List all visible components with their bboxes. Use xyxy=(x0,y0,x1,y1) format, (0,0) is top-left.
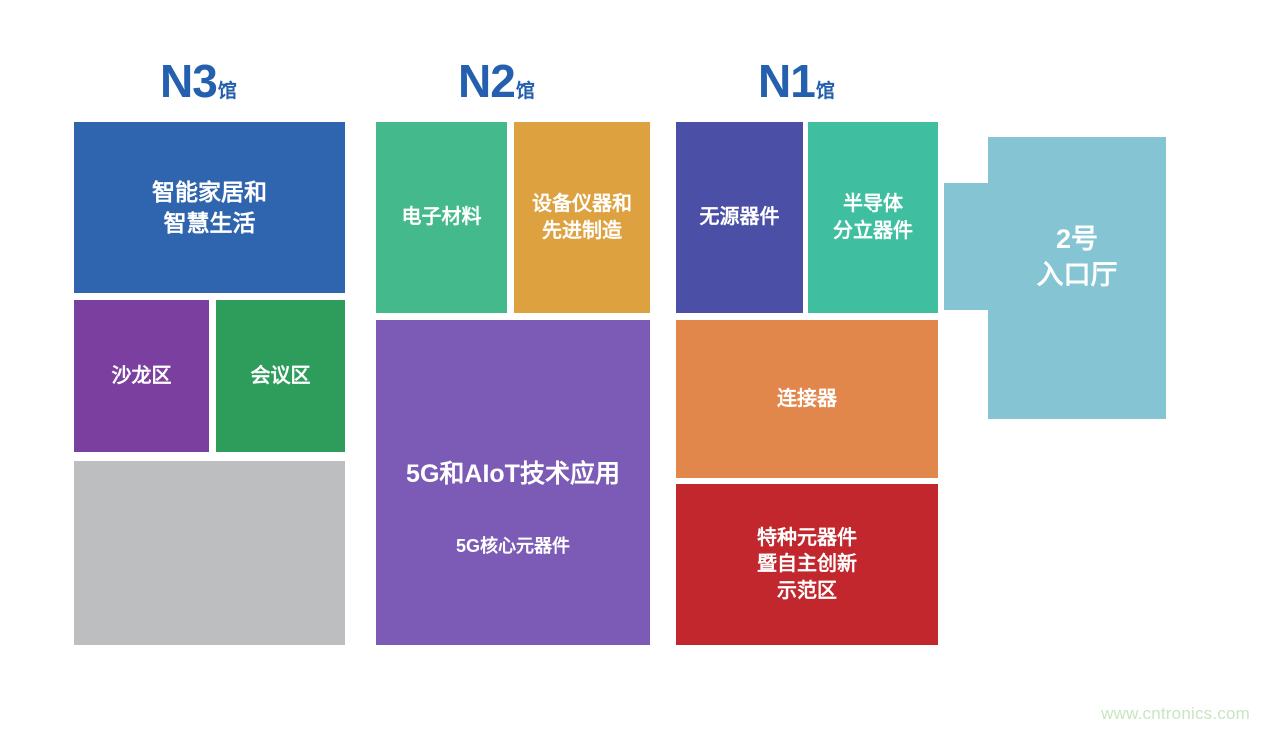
hall-code-n2: N2 xyxy=(458,55,515,107)
zone-label: 特种元器件 暨自主创新 示范区 xyxy=(757,525,857,604)
zone-semiconductor-discrete-devices[interactable]: 半导体 分立器件 xyxy=(808,122,938,313)
entrance-hall-shape-icon xyxy=(944,137,1166,419)
zone-label: 电子材料 xyxy=(402,204,482,230)
zone-sublabel: 5G核心元器件 xyxy=(456,535,570,559)
zone-label: 连接器 xyxy=(777,386,837,412)
zone-5g-and-aiot-technology-applications[interactable]: 5G和AIoT技术应用 5G核心元器件 xyxy=(376,320,650,645)
zone-label: 半导体 分立器件 xyxy=(833,191,913,244)
hall-caption-n1: N1馆 xyxy=(758,58,835,104)
zone-passive-components[interactable]: 无源器件 xyxy=(676,122,803,313)
zone-label: 会议区 xyxy=(251,363,311,389)
site-watermark: www.cntronics.com xyxy=(1101,704,1250,724)
zone-equipment-instruments-and-advanced-manufacturing[interactable]: 设备仪器和 先进制造 xyxy=(514,122,650,313)
zone-label: 5G和AIoT技术应用 xyxy=(406,458,620,491)
floor-plan-canvas: N3馆 N2馆 N1馆 智能家居和 智慧生活 沙龙区 会议区 电子材料 设备仪器… xyxy=(0,0,1268,738)
hall-suffix-n2: 馆 xyxy=(516,81,535,102)
zone-label: 智能家居和 智慧生活 xyxy=(152,177,267,238)
zone-smart-home-and-smart-living[interactable]: 智能家居和 智慧生活 xyxy=(74,122,345,293)
hall-code-n1: N1 xyxy=(758,55,815,107)
hall-code-n3: N3 xyxy=(160,55,217,107)
zone-meeting-area[interactable]: 会议区 xyxy=(216,300,345,452)
zone-label: 沙龙区 xyxy=(112,363,172,389)
zone-label: 无源器件 xyxy=(700,204,780,230)
zone-connectors[interactable]: 连接器 xyxy=(676,320,938,478)
zone-electronic-materials[interactable]: 电子材料 xyxy=(376,122,507,313)
entrance-hall-2[interactable]: 2号 入口厅 xyxy=(944,137,1166,419)
zone-salon-area[interactable]: 沙龙区 xyxy=(74,300,209,452)
zone-reserved-area[interactable] xyxy=(74,461,345,645)
zone-special-components-and-innovation-demo-area[interactable]: 特种元器件 暨自主创新 示范区 xyxy=(676,484,938,645)
hall-caption-n3: N3馆 xyxy=(160,58,237,104)
hall-caption-n2: N2馆 xyxy=(458,58,535,104)
hall-suffix-n3: 馆 xyxy=(218,81,237,102)
zone-label: 设备仪器和 先进制造 xyxy=(532,191,632,244)
hall-suffix-n1: 馆 xyxy=(816,81,835,102)
